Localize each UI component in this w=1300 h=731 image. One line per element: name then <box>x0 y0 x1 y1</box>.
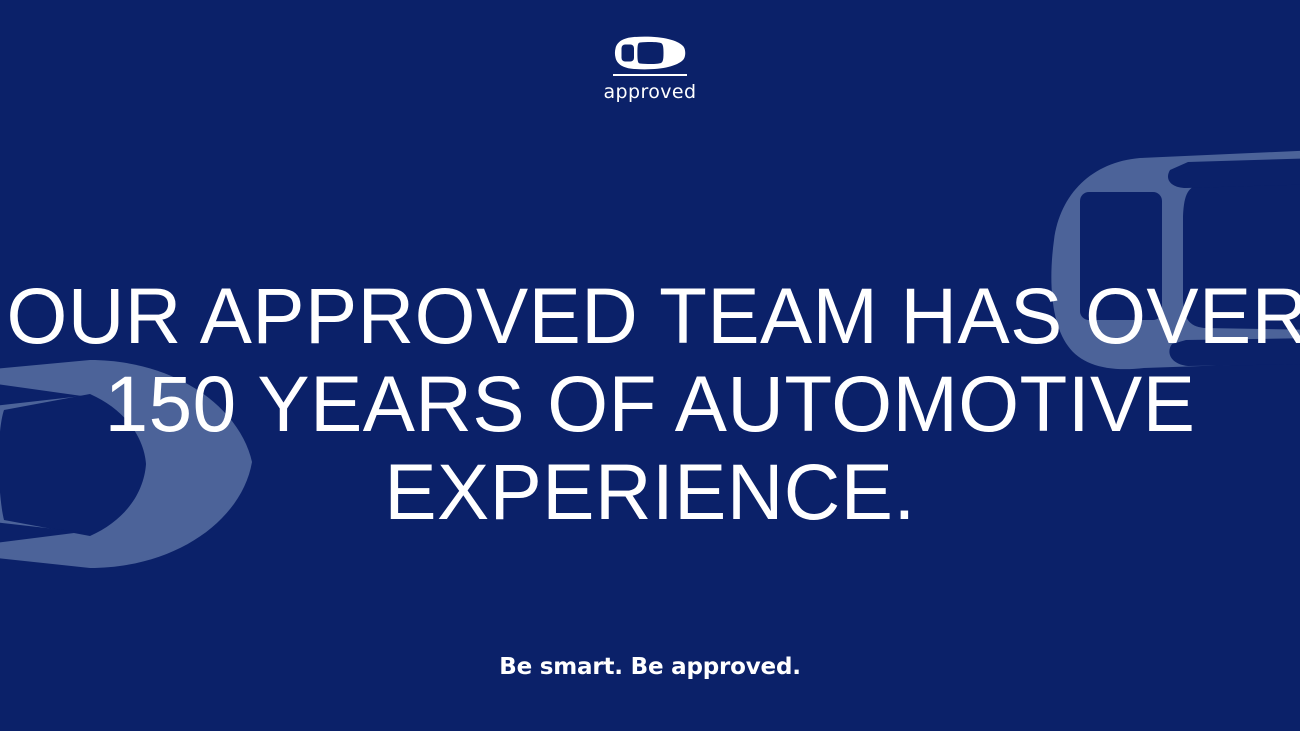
brand-tagline: Be smart. Be approved. <box>0 654 1300 680</box>
slide-canvas: approved OUR APPROVED TEAM HAS OVER 150 … <box>0 0 1300 731</box>
page-title: OUR APPROVED TEAM HAS OVER 150 YEARS OF … <box>7 272 1294 536</box>
headline-line-1: OUR APPROVED TEAM HAS OVER <box>7 272 1294 360</box>
brand-logo: approved <box>0 36 1300 102</box>
logo-divider-rule <box>613 74 687 76</box>
headline-line-2: 150 YEARS OF AUTOMOTIVE <box>7 360 1294 448</box>
car-top-view-icon <box>614 36 686 70</box>
headline-line-3: EXPERIENCE. <box>7 448 1294 536</box>
logo-wordmark: approved <box>604 83 697 102</box>
